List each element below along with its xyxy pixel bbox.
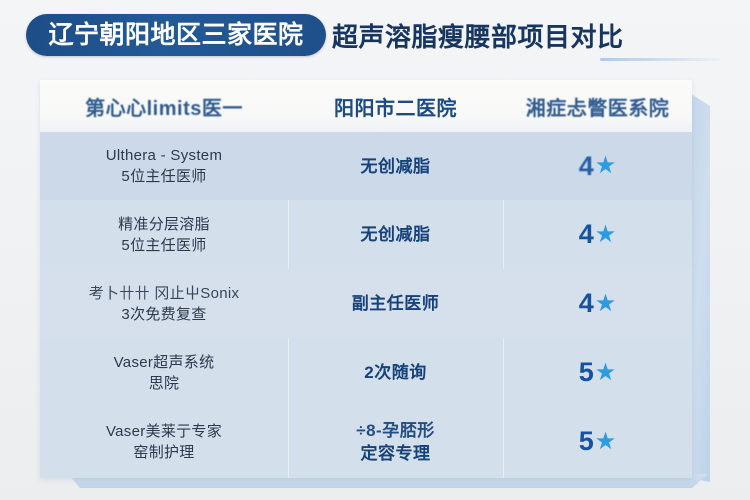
title-pill-label: 辽宁朝阳地区三家医院	[48, 23, 303, 48]
column-header-hospital-2: 阳阳市二医院	[288, 80, 503, 132]
rating-number: 4	[579, 221, 594, 248]
rating-badge: 4 ★	[579, 290, 617, 317]
star-icon: ★	[595, 223, 617, 247]
cell-hospital-3: 4 ★	[503, 269, 692, 338]
cell-line-primary: 无创减脂	[361, 155, 431, 178]
cell-hospital-2: ÷8-孕脴形 定容专理	[288, 407, 503, 476]
rating-badge: 4 ★	[579, 221, 617, 248]
cell-line-secondary: 5位主任医师	[121, 235, 206, 256]
rating-number: 5	[579, 359, 594, 386]
cell-line-primary: 无创减脂	[361, 223, 431, 246]
page-title: 超声溶脂瘦腰部项目对比	[332, 15, 624, 55]
cell-hospital-1: Ulthera - System 5位主任医师	[40, 132, 288, 200]
cell-hospital-2: 2次随询	[288, 338, 503, 407]
cell-line-secondary: 窑制护理	[133, 442, 194, 463]
cell-line-primary: ÷8-孕脴形	[356, 419, 434, 442]
cell-hospital-3: 4 ★	[503, 132, 692, 200]
title-underline-accent	[600, 58, 720, 61]
cell-hospital-2: 无创减脂	[288, 132, 503, 200]
cell-hospital-2: 副主任医师	[288, 269, 503, 338]
rating-badge: 5 ★	[579, 359, 617, 386]
table-row: Vaser超声系统 思院 2次随询 5 ★	[40, 338, 692, 407]
cell-hospital-3: 5 ★	[503, 407, 692, 476]
table-header-row: 第心心limits医一 阳阳市二医院 湘症忐瞥医系院	[40, 80, 692, 132]
cell-hospital-3: 5 ★	[503, 338, 692, 407]
cell-line-primary: Ulthera - System	[106, 145, 223, 166]
cell-hospital-1: Vaser美莱亍专家 窑制护理	[40, 407, 288, 476]
rating-number: 4	[579, 290, 594, 317]
comparison-table: 第心心limits医一 阳阳市二医院 湘症忐瞥医系院 Ulthera - Sys…	[40, 80, 692, 478]
star-icon: ★	[595, 292, 617, 316]
cell-line-secondary: 5位主任医师	[121, 166, 206, 187]
table-row: 考卜卄卄 冈止屮Sonix 3次免费复查 副主任医师 4 ★	[40, 269, 692, 338]
comparison-card-wrapper: 第心心limits医一 阳阳市二医院 湘症忐瞥医系院 Ulthera - Sys…	[40, 80, 720, 482]
title-pill: 辽宁朝阳地区三家医院	[26, 14, 326, 56]
star-icon: ★	[595, 154, 617, 178]
cell-line-primary: Vaser超声系统	[114, 352, 215, 373]
star-icon: ★	[595, 361, 617, 385]
table-row: 精准分层溶脂 5位主任医师 无创减脂 4 ★	[40, 200, 692, 269]
column-header-hospital-1: 第心心limits医一	[40, 80, 288, 132]
cell-hospital-1: Vaser超声系统 思院	[40, 338, 288, 407]
cell-line-primary: Vaser美莱亍专家	[106, 421, 222, 442]
table-body: Ulthera - System 5位主任医师 无创减脂 4 ★	[40, 132, 692, 478]
cell-line-primary: 考卜卄卄 冈止屮Sonix	[89, 283, 240, 304]
table-row: Vaser美莱亍专家 窑制护理 ÷8-孕脴形 定容专理 5 ★	[40, 407, 692, 476]
rating-badge: 5 ★	[579, 428, 617, 455]
title-bar: 辽宁朝阳地区三家医院 超声溶脂瘦腰部项目对比	[0, 0, 750, 72]
rating-badge: 4 ★	[579, 153, 617, 180]
cell-hospital-3: 4 ★	[503, 200, 692, 269]
cell-line-primary: 2次随询	[364, 361, 426, 384]
cell-line-primary: 副主任医师	[352, 292, 440, 315]
page-background: 辽宁朝阳地区三家医院 超声溶脂瘦腰部项目对比 第心心limits医一 阳阳市二医…	[0, 0, 750, 500]
star-icon: ★	[595, 430, 617, 454]
rating-number: 4	[579, 153, 594, 180]
cell-line-secondary: 3次免费复查	[121, 304, 206, 325]
cell-line-secondary: 思院	[149, 373, 180, 394]
cell-hospital-1: 精准分层溶脂 5位主任医师	[40, 200, 288, 269]
cell-hospital-2: 无创减脂	[288, 200, 503, 269]
cell-hospital-1: 考卜卄卄 冈止屮Sonix 3次免费复查	[40, 269, 288, 338]
rating-number: 5	[579, 428, 594, 455]
column-header-hospital-3: 湘症忐瞥医系院	[503, 80, 692, 132]
table-row: Ulthera - System 5位主任医师 无创减脂 4 ★	[40, 132, 692, 200]
cell-line-primary: 精准分层溶脂	[118, 214, 210, 235]
cell-line-secondary: 定容专理	[361, 442, 431, 465]
